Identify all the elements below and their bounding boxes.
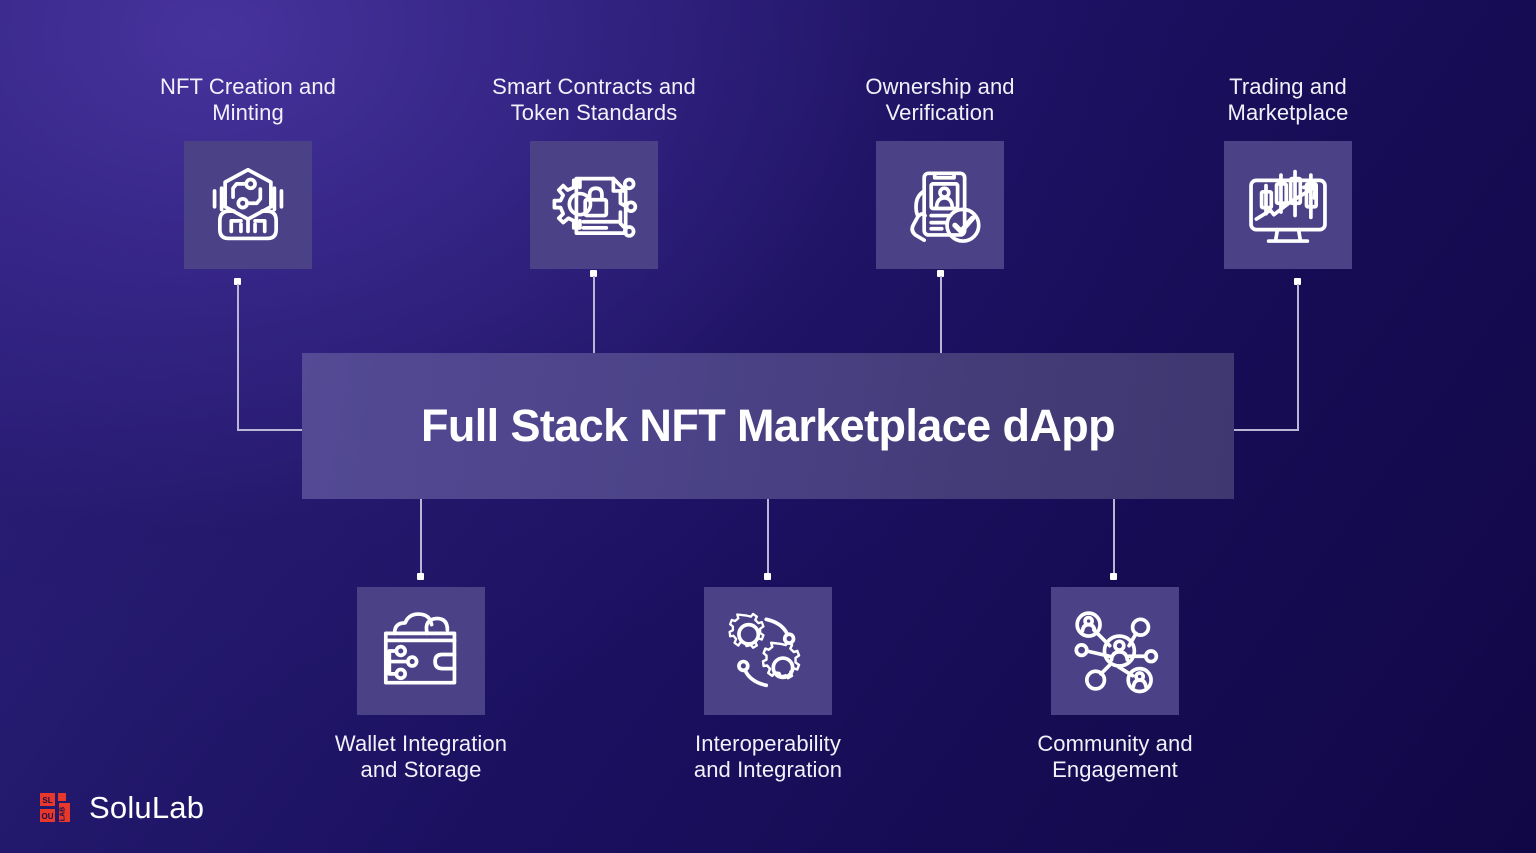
connector-segment-vertical [1297, 284, 1299, 430]
center-box: Full Stack NFT Marketplace dApp [302, 353, 1234, 499]
icon-tile [876, 141, 1004, 269]
node-ownership-and-verification[interactable]: Ownership and Verification [790, 74, 1090, 269]
icon-tile [1224, 141, 1352, 269]
connector-segment-vertical [593, 276, 595, 354]
center-title: Full Stack NFT Marketplace dApp [421, 400, 1115, 452]
connector-segment-vertical [420, 499, 422, 575]
node-wallet-integration-and-storage[interactable]: Wallet Integration and Storage [271, 587, 571, 783]
node-trading-and-marketplace[interactable]: Trading and Marketplace [1138, 74, 1438, 269]
contract-lock-gear-circuit-icon [550, 161, 638, 249]
two-gears-icon [724, 607, 812, 695]
connector-dot [1110, 573, 1117, 580]
node-label: Interoperability and Integration [618, 731, 918, 783]
connector-segment-vertical [1113, 499, 1115, 575]
infographic-canvas: NFT Creation and Minting [0, 0, 1536, 853]
node-label: NFT Creation and Minting [98, 74, 398, 126]
icon-tile [184, 141, 312, 269]
icon-tile [1051, 587, 1179, 715]
node-label: Trading and Marketplace [1138, 74, 1438, 126]
node-smart-contracts-and-token-standards[interactable]: Smart Contracts and Token Standards [444, 74, 744, 269]
connector-segment-vertical [940, 276, 942, 354]
wallet-cloud-circuit-icon [377, 607, 465, 695]
connector-segment-horizontal [237, 429, 303, 431]
node-label: Smart Contracts and Token Standards [444, 74, 744, 126]
svg-text:SL: SL [42, 796, 52, 805]
connector-segment-horizontal [1234, 429, 1299, 431]
connector-dot [764, 573, 771, 580]
icon-tile [704, 587, 832, 715]
svg-text:OU: OU [42, 812, 54, 821]
brand-logo[interactable]: SL OU LAB SoluLab [38, 788, 204, 828]
node-community-and-engagement[interactable]: Community and Engagement [965, 587, 1265, 783]
icon-tile [357, 587, 485, 715]
connector-segment-vertical [237, 284, 239, 430]
monitor-candlestick-chart-icon [1244, 161, 1332, 249]
svg-text:LAB: LAB [60, 807, 67, 821]
node-label: Ownership and Verification [790, 74, 1090, 126]
node-label: Community and Engagement [965, 731, 1265, 783]
node-label: Wallet Integration and Storage [271, 731, 571, 783]
people-network-icon [1071, 607, 1159, 695]
hand-id-card-check-icon [896, 161, 984, 249]
nft-hexagon-circuit-icon [204, 161, 292, 249]
connector-segment-vertical [767, 499, 769, 575]
connector-dot [417, 573, 424, 580]
node-interoperability-and-integration[interactable]: Interoperability and Integration [618, 587, 918, 783]
brand-name: SoluLab [89, 790, 204, 826]
node-nft-creation-and-minting[interactable]: NFT Creation and Minting [98, 74, 398, 269]
solulab-logo-icon: SL OU LAB [38, 788, 78, 828]
icon-tile [530, 141, 658, 269]
